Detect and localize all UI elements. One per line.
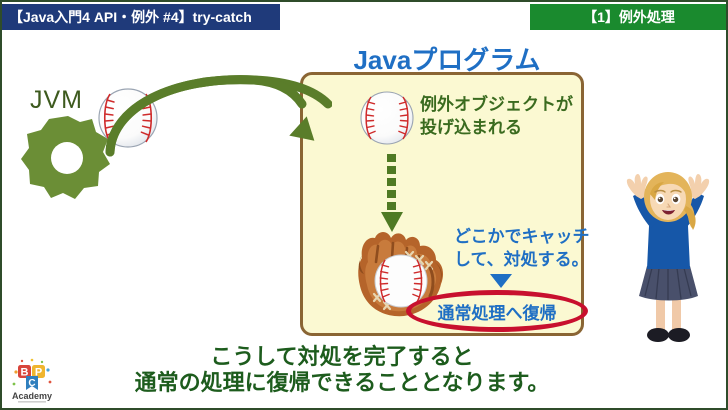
- caption-line-2: 通常の処理に復帰できることとなります。: [62, 370, 622, 396]
- exception-thrown-line-2: 投げ込まれる: [420, 117, 580, 140]
- dotted-down-arrow-icon: [380, 154, 404, 232]
- slide-canvas: 【Java入門4 API・例外 #4】try-catch 【1】例外処理 Jav…: [0, 0, 728, 410]
- down-triangle-icon: [490, 274, 512, 288]
- caption-line-1: こうして対処を完了すると: [62, 344, 622, 370]
- catch-handle-text: どこかでキャッチ して、対処する。: [454, 226, 594, 272]
- baseball-icon: [359, 90, 415, 146]
- caption-text: こうして対処を完了すると 通常の処理に復帰できることとなります。: [62, 344, 622, 396]
- cheering-woman-illustration: [614, 170, 722, 345]
- catch-handle-line-1: どこかでキャッチ: [454, 226, 594, 249]
- svg-text:C: C: [28, 378, 35, 389]
- jvm-label: JVM: [30, 86, 83, 115]
- return-to-normal-callout: 通常処理へ復帰: [406, 290, 588, 332]
- return-to-normal-label: 通常処理へ復帰: [406, 290, 588, 332]
- svg-text:Academy: Academy: [12, 391, 52, 401]
- exception-thrown-line-1: 例外オブジェクトが: [420, 94, 580, 117]
- catch-handle-line-2: して、対処する。: [454, 249, 594, 272]
- bcp-academy-logo: B P C Academy: [8, 354, 56, 404]
- header-course-tag: 【Java入門4 API・例外 #4】try-catch: [2, 4, 280, 30]
- header-section-tag: 【1】例外処理: [530, 4, 728, 30]
- exception-thrown-text: 例外オブジェクトが 投げ込まれる: [420, 94, 580, 140]
- curved-arrow-icon: [102, 64, 332, 159]
